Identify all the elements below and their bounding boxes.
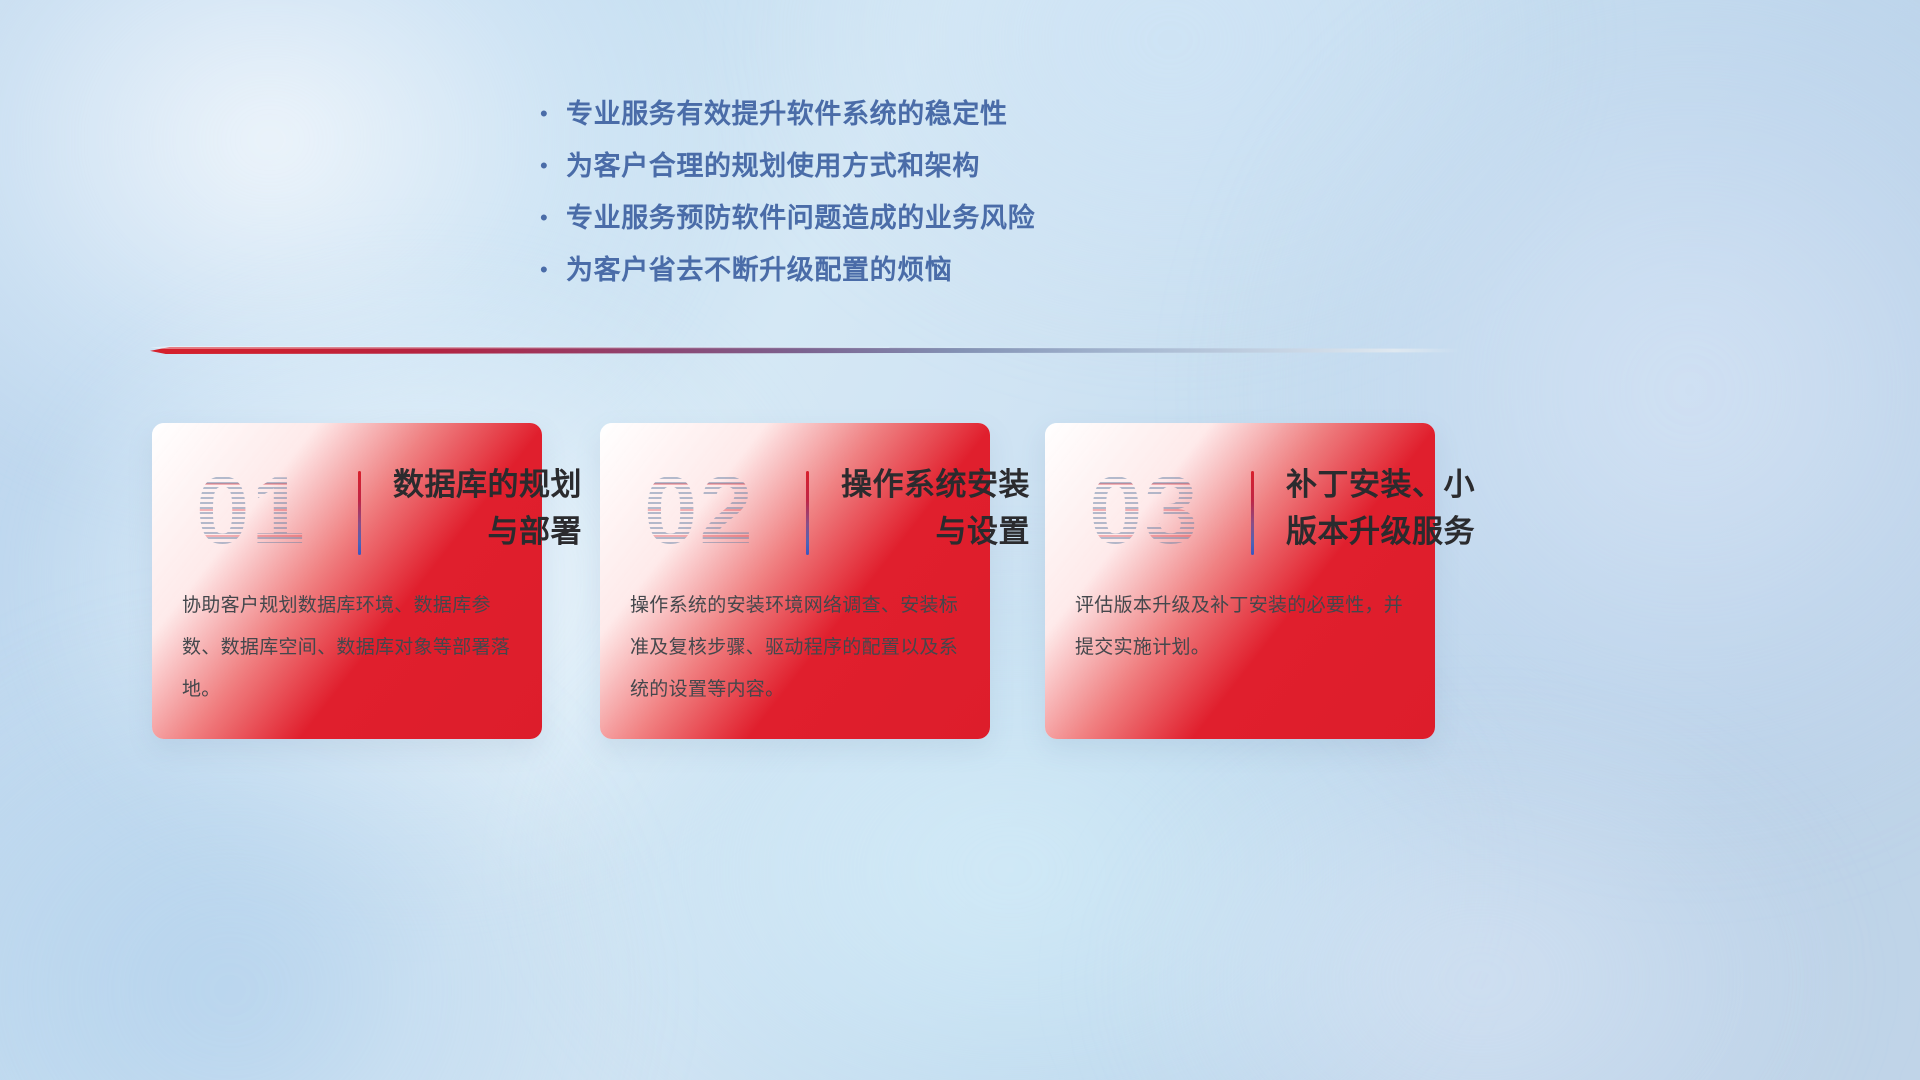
card-header: 03 03 补丁安装、小版本升级服务 xyxy=(1075,457,1405,567)
card-description: 协助客户规划数据库环境、数据库参数、数据库空间、数据库对象等部署落地。 xyxy=(182,585,518,711)
card-header: 01 01 数据库的规划与部署 xyxy=(182,457,512,567)
service-card[interactable]: 01 01 数据库的规划与部署 协助客户规划数据库环境、数据库参数、数据库空间、… xyxy=(152,423,542,739)
service-card[interactable]: 03 03 补丁安装、小版本升级服务 评估版本升级及补丁安装的必要性，并提交实施… xyxy=(1045,423,1435,739)
bullet-dot-icon: • xyxy=(536,144,566,188)
card-title: 数据库的规划与部署 xyxy=(382,461,582,555)
benefits-bullet-list: • 专业服务有效提升软件系统的稳定性 • 为客户合理的规划使用方式和架构 • 专… xyxy=(536,92,1236,300)
list-item: • 为客户省去不断升级配置的烦恼 xyxy=(536,248,1236,300)
list-item: • 为客户合理的规划使用方式和架构 xyxy=(536,144,1236,196)
card-title: 补丁安装、小版本升级服务 xyxy=(1275,461,1475,555)
bullet-dot-icon: • xyxy=(536,92,566,136)
card-divider-rule xyxy=(1251,471,1254,555)
list-item: • 专业服务有效提升软件系统的稳定性 xyxy=(536,92,1236,144)
bullet-text: 为客户省去不断升级配置的烦恼 xyxy=(566,248,952,292)
service-card-group: 01 01 数据库的规划与部署 协助客户规划数据库环境、数据库参数、数据库空间、… xyxy=(0,423,1920,743)
section-divider xyxy=(150,344,1460,360)
bullet-dot-icon: • xyxy=(536,196,566,240)
card-description: 评估版本升级及补丁安装的必要性，并提交实施计划。 xyxy=(1075,585,1411,669)
card-divider-rule xyxy=(806,471,809,555)
list-item: • 专业服务预防软件问题造成的业务风险 xyxy=(536,196,1236,248)
bullet-dot-icon: • xyxy=(536,248,566,292)
service-card[interactable]: 02 02 操作系统安装与设置 操作系统的安装环境网络调查、安装标准及复核步骤、… xyxy=(600,423,990,739)
card-header: 02 02 操作系统安装与设置 xyxy=(630,457,960,567)
bullet-text: 专业服务预防软件问题造成的业务风险 xyxy=(566,196,1035,240)
card-description: 操作系统的安装环境网络调查、安装标准及复核步骤、驱动程序的配置以及系统的设置等内… xyxy=(630,585,966,711)
card-number-watermark-accent: 02 xyxy=(644,457,755,565)
card-title: 操作系统安装与设置 xyxy=(830,461,1030,555)
bullet-text: 为客户合理的规划使用方式和架构 xyxy=(566,144,980,188)
card-number-watermark-accent: 01 xyxy=(196,457,307,565)
bullet-text: 专业服务有效提升软件系统的稳定性 xyxy=(566,92,1008,136)
card-divider-rule xyxy=(358,471,361,555)
card-number-watermark-accent: 03 xyxy=(1089,457,1200,565)
